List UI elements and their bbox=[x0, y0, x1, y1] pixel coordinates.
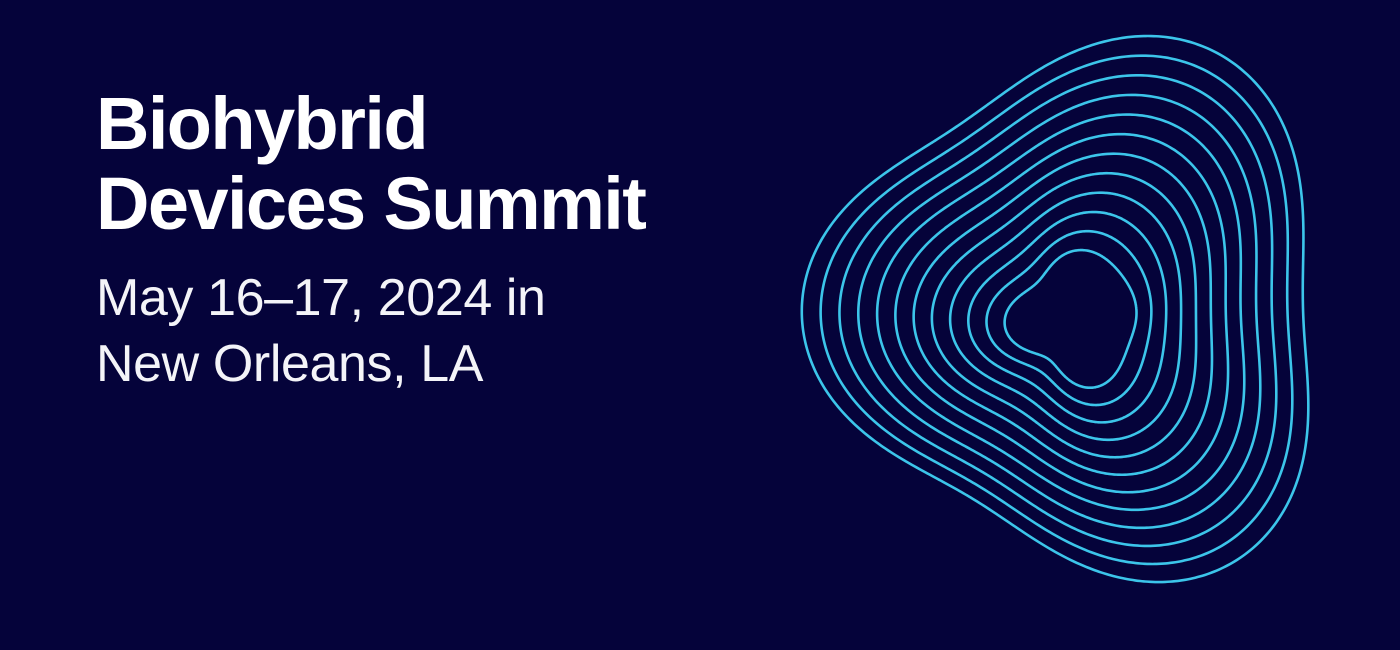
event-location-line: New Orleans, LA bbox=[96, 331, 776, 397]
contour-ring-0 bbox=[1005, 250, 1137, 388]
contour-ring-11 bbox=[802, 36, 1309, 582]
page-title: Biohybrid Devices Summit bbox=[96, 84, 776, 244]
title-line-2: Devices Summit bbox=[96, 164, 776, 244]
contour-ring-5 bbox=[914, 154, 1212, 475]
banner-text-block: Biohybrid Devices Summit May 16–17, 2024… bbox=[96, 84, 776, 397]
event-banner: Biohybrid Devices Summit May 16–17, 2024… bbox=[0, 0, 1400, 650]
blob-contour-svg bbox=[800, 75, 1360, 585]
event-date-line: May 16–17, 2024 in bbox=[96, 265, 776, 331]
title-line-1: Biohybrid bbox=[96, 84, 776, 164]
contour-ring-2 bbox=[968, 212, 1166, 422]
contour-ring-4 bbox=[932, 173, 1196, 457]
contour-ring-8 bbox=[858, 95, 1260, 528]
contour-ring-1 bbox=[986, 231, 1151, 405]
concentric-blob-contours-graphic bbox=[800, 75, 1360, 585]
contour-ring-10 bbox=[821, 56, 1293, 564]
contour-ring-9 bbox=[839, 75, 1276, 546]
contour-ring-7 bbox=[877, 115, 1244, 510]
contour-ring-3 bbox=[950, 193, 1181, 440]
contour-ring-6 bbox=[895, 134, 1228, 492]
event-details: May 16–17, 2024 in New Orleans, LA bbox=[96, 265, 776, 397]
